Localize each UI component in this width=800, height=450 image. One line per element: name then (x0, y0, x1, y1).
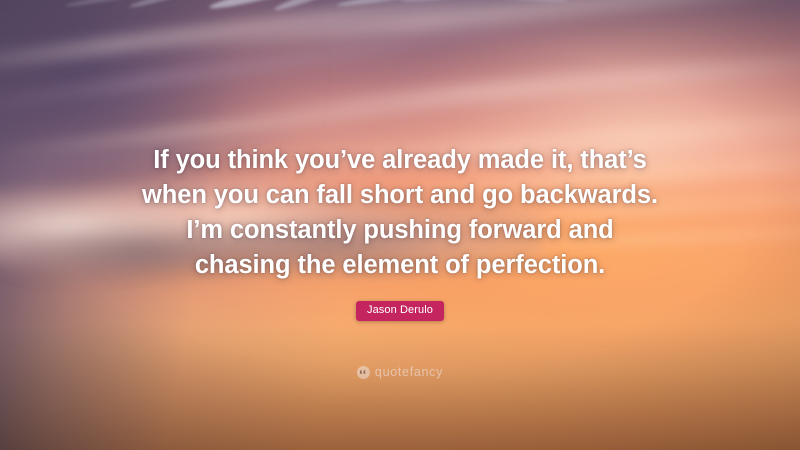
watermark-label: quotefancy (375, 366, 443, 379)
overlay-content: If you think you’ve already made it, tha… (0, 0, 800, 450)
quote-line: I’m constantly pushing forward and (120, 213, 680, 248)
quote-line: when you can fall short and go backwards… (120, 178, 680, 213)
quote-mark-circle-icon (357, 366, 370, 379)
quote-line: If you think you’ve already made it, tha… (120, 143, 680, 178)
author-badge[interactable]: Jason Derulo (356, 301, 444, 321)
quote-line: chasing the element of perfection. (120, 248, 680, 283)
quote-text: If you think you’ve already made it, tha… (120, 143, 680, 283)
quote-image: If you think you’ve already made it, tha… (0, 0, 800, 450)
watermark[interactable]: quotefancy (357, 366, 443, 379)
